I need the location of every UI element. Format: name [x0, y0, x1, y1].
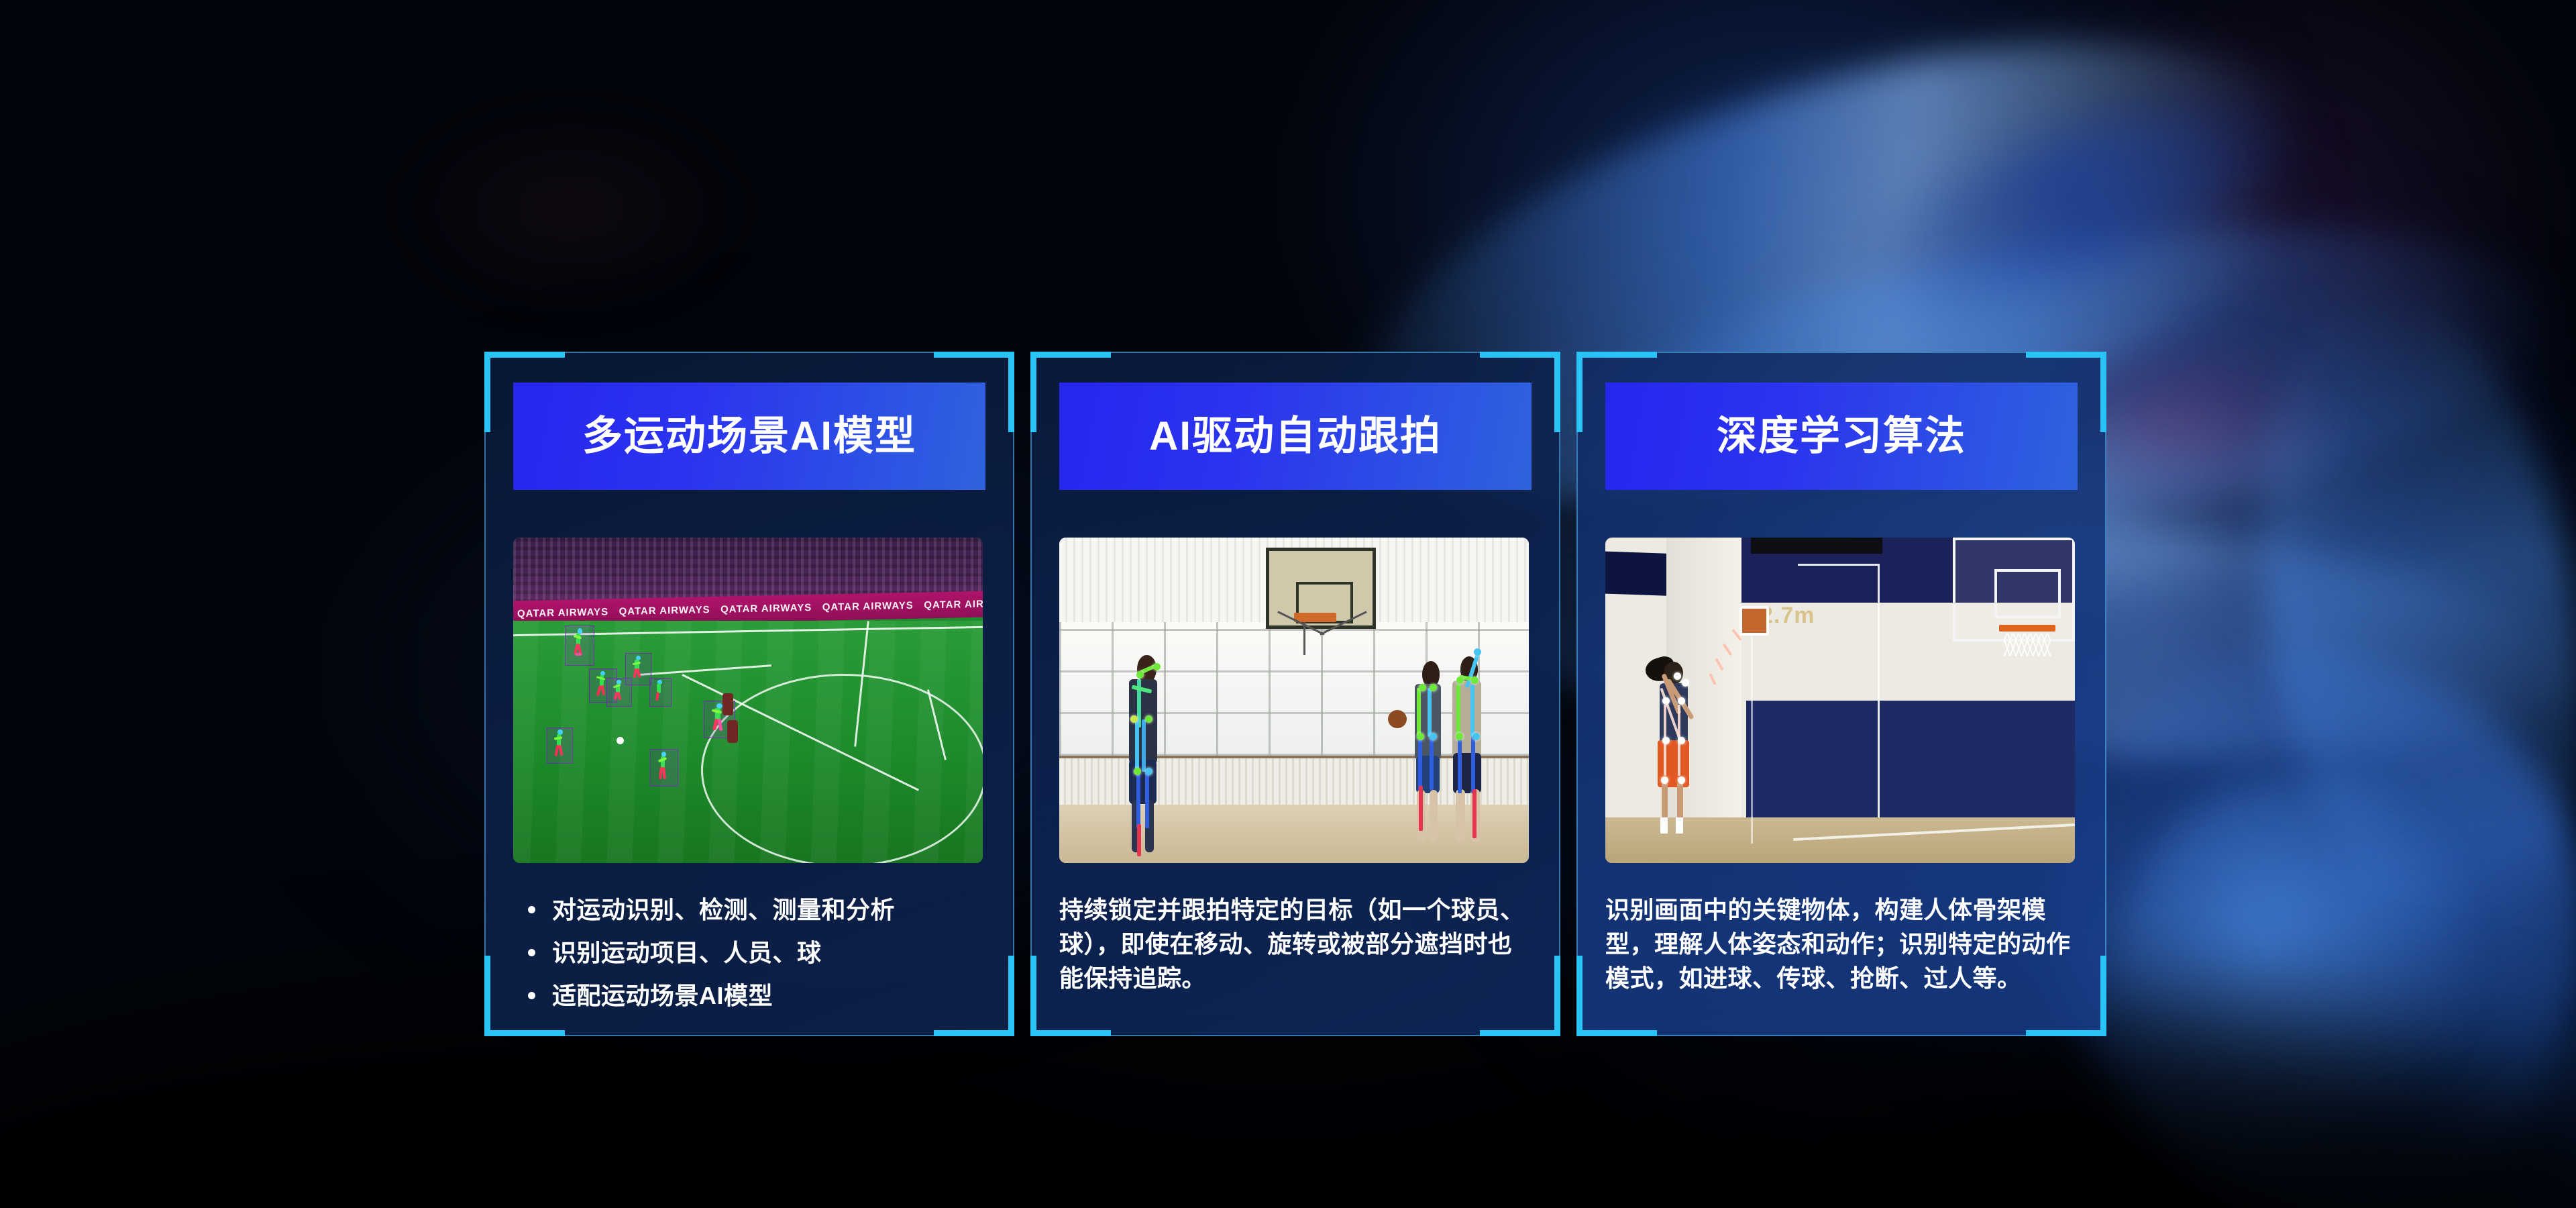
corner-bracket-bottom-right [934, 1030, 1014, 1036]
list-item: 识别运动项目、人员、球 [552, 936, 983, 970]
corner-bracket-top-left [1030, 352, 1111, 358]
corner-bracket-bottom-left [484, 1030, 565, 1036]
pitch-line [927, 689, 947, 760]
indoor-basketball-pose-thumbnail [1059, 538, 1529, 863]
corner-bracket-top-right [2026, 352, 2106, 358]
player-with-skeleton [1638, 658, 1709, 837]
pitch-surface [513, 621, 983, 863]
card-paragraph: 识别画面中的关键物体，构建人体骨架模型，理解人体姿态和动作；识别特定的动作模式，… [1605, 893, 2075, 995]
skeleton-keypoint [1430, 733, 1437, 740]
list-item: 对运动识别、检测、测量和分析 [552, 893, 983, 927]
detection-box [547, 727, 572, 764]
skeleton-limb [1472, 789, 1477, 838]
skeleton-limb [1419, 786, 1423, 832]
player-silhouette [722, 693, 734, 715]
pose-skeleton [570, 628, 588, 662]
corner-bracket-top-left [1576, 352, 1657, 358]
skeleton-limb [1142, 719, 1146, 772]
skeleton-limb [1470, 685, 1474, 737]
card-title-bar: AI驱动自动跟拍 [1059, 383, 1532, 490]
backboard-support [1303, 622, 1305, 655]
corner-bracket-bottom-left [1576, 956, 1582, 1036]
skeleton-keypoint [1474, 648, 1481, 656]
basketball-rim [1999, 625, 2055, 631]
card-body: 识别画面中的关键物体，构建人体骨架模型，理解人体姿态和动作；识别特定的动作模式，… [1605, 893, 2075, 995]
pitch-line [854, 621, 869, 746]
skeleton-keypoint [1456, 733, 1463, 740]
detection-box [589, 668, 616, 703]
detection-box [649, 678, 672, 707]
card-title: 多运动场景AI模型 [582, 416, 916, 456]
player-body [1430, 790, 1438, 843]
pitch-line [640, 664, 771, 676]
skeleton-keypoint [1662, 737, 1670, 744]
corner-bracket-bottom-right [2026, 1030, 2106, 1036]
skeleton-keypoint [1678, 776, 1685, 784]
pose-skeleton [629, 656, 647, 683]
player-sock [1660, 817, 1668, 834]
skeleton-limb [1137, 824, 1141, 856]
soccer-pitch-detection-thumbnail: QATAR AIRWAYS QATAR AIRWAYS QATAR AIRWAY… [513, 538, 983, 863]
skeleton-limb [1418, 737, 1422, 790]
corner-bracket-bottom-right [1480, 1030, 1560, 1036]
corner-bracket-top-right [2100, 352, 2106, 432]
pose-skeleton [610, 680, 627, 704]
corner-bracket-top-right [1554, 352, 1560, 432]
banner-text: QATAR AIRWAYS QATAR AIRWAYS QATAR AIRWAY… [513, 597, 983, 619]
pose-skeleton [551, 729, 569, 761]
corner-bracket-top-left [1030, 352, 1036, 432]
scoreboard [1751, 538, 1882, 554]
skeleton-keypoint [1145, 715, 1152, 723]
skeleton-limb [1417, 688, 1421, 737]
skeleton-keypoint [1661, 776, 1668, 784]
card-title-bar: 多运动场景AI模型 [513, 383, 985, 490]
measurement-line-horizontal [1798, 564, 1878, 566]
measurement-line-vertical [1878, 564, 1880, 817]
pose-skeleton [654, 752, 673, 785]
basketball-net [2004, 634, 2050, 656]
card-body: 对运动识别、检测、测量和分析 识别运动项目、人员、球 适配运动场景AI模型 [513, 893, 983, 1013]
skeleton-limb [1136, 772, 1140, 828]
skeleton-limb [1471, 737, 1475, 793]
corner-bracket-top-right [934, 352, 1014, 358]
card-body: 持续锁定并跟拍特定的目标（如一个球员、球），即使在移动、旋转或被部分遮挡时也能保… [1059, 893, 1529, 995]
list-item: 适配运动场景AI模型 [552, 978, 983, 1013]
skeleton-limb [1430, 737, 1434, 790]
corner-bracket-bottom-right [1554, 956, 1560, 1036]
pose-skeleton [593, 671, 612, 700]
basketball-shot-measurement-thumbnail: 2.7m [1605, 538, 2075, 863]
skeleton-keypoint [1145, 768, 1152, 775]
skeleton-keypoint [1430, 684, 1437, 691]
pose-skeleton [708, 703, 730, 736]
feature-bullet-list: 对运动识别、检测、测量和分析 识别运动项目、人员、球 适配运动场景AI模型 [513, 893, 983, 1013]
corner-bracket-top-left [1576, 352, 1582, 432]
skeleton-keypoint [1674, 672, 1681, 680]
skeleton-keypoint [1678, 697, 1685, 705]
feature-card-multi-sport-ai-model[interactable]: 多运动场景AI模型 QATAR AIRWAYS QATAR AIRWAYS QA… [484, 352, 1014, 1036]
corner-bracket-top-left [484, 352, 565, 358]
player-sock [1676, 817, 1684, 834]
skeleton-limb [1456, 685, 1460, 737]
skeleton-limb [1135, 719, 1139, 772]
skeleton-keypoint [1153, 663, 1161, 670]
backboard-inner-square [1994, 569, 2061, 618]
corner-bracket-top-left [484, 352, 490, 432]
measurement-line-vertical [1751, 622, 1753, 844]
feature-card-deep-learning-algorithm[interactable]: 深度学习算法 [1576, 352, 2106, 1036]
basketball-hoop [1953, 538, 2075, 642]
skeleton-keypoint [1678, 737, 1685, 744]
pitch-line [513, 626, 983, 636]
corner-bracket-bottom-left [1030, 1030, 1111, 1036]
detection-box [650, 749, 678, 787]
detection-box [625, 653, 652, 685]
corner-bracket-bottom-left [1576, 1030, 1657, 1036]
basketball-rim [1294, 613, 1336, 623]
player-with-skeleton [1444, 648, 1501, 850]
soccer-ball [616, 737, 624, 744]
skeleton-keypoint [1136, 671, 1144, 678]
gym-wall-navy-lower [1746, 701, 2075, 821]
player-body [1456, 789, 1465, 842]
detection-box [565, 625, 594, 666]
skeleton-keypoint [1662, 697, 1670, 705]
card-title-bar: 深度学习算法 [1605, 383, 2078, 490]
pose-skeleton [652, 680, 667, 704]
basketball [1388, 710, 1407, 728]
skeleton-limb [1428, 688, 1432, 737]
corner-bracket-top-right [1480, 352, 1560, 358]
skeleton-keypoint [1682, 679, 1689, 687]
skeleton-keypoint [1130, 715, 1138, 723]
feature-card-ai-auto-tracking[interactable]: AI驱动自动跟拍 [1030, 352, 1560, 1036]
ball-bounding-box [1739, 606, 1769, 636]
pitch-line [682, 674, 919, 791]
detection-box [606, 678, 632, 707]
corner-bracket-bottom-right [1008, 956, 1014, 1036]
skeleton-limb [1458, 737, 1462, 793]
player-silhouette [727, 720, 739, 743]
corner-bracket-bottom-left [484, 956, 490, 1036]
corner-bracket-bottom-right [2100, 956, 2106, 1036]
card-title: AI驱动自动跟拍 [1149, 416, 1442, 456]
card-paragraph: 持续锁定并跟拍特定的目标（如一个球员、球），即使在移动、旋转或被部分遮挡时也能保… [1059, 893, 1529, 995]
center-circle [701, 674, 983, 863]
detection-box [704, 701, 735, 738]
card-title: 深度学习算法 [1717, 416, 1966, 456]
skeleton-limb [1145, 772, 1149, 828]
player-with-skeleton [1120, 655, 1177, 857]
corner-bracket-bottom-left [1030, 956, 1036, 1036]
corner-bracket-top-right [1008, 352, 1014, 432]
